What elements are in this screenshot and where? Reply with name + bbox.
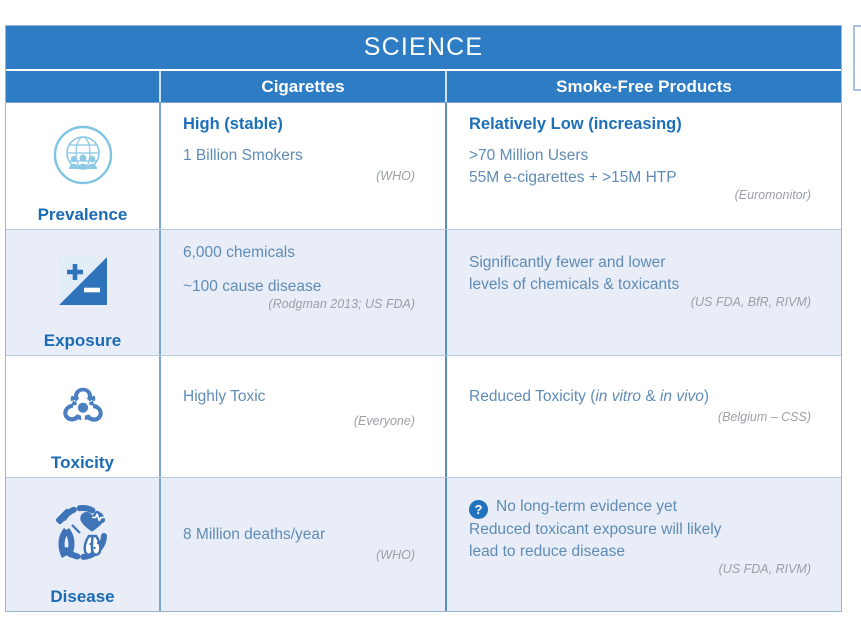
category-cell-toxicity: Toxicity (6, 356, 161, 477)
lead-text: High (stable) (183, 115, 429, 135)
source-citation: (WHO) (183, 548, 429, 562)
cigarettes-cell-exposure: 6,000 chemicals ~100 cause disease (Rodg… (161, 230, 447, 355)
table-row: Prevalence High (stable) 1 Billion Smoke… (6, 103, 841, 230)
source-citation: (Belgium – CSS) (469, 410, 825, 424)
body-line: No long-term evidence yet (496, 498, 677, 515)
slide-canvas: SCIENCE Cigarettes Smoke-Free Products (0, 0, 861, 633)
cigarettes-cell-disease: 8 Million deaths/year (WHO) (161, 478, 447, 611)
body-line-with-badge: ?No long-term evidence yet (469, 496, 825, 519)
body-line: 1 Billion Smokers (183, 145, 429, 167)
category-cell-disease: Disease (6, 478, 161, 611)
source-citation: (US FDA, BfR, RIVM) (469, 295, 825, 309)
plus-minus-square-icon (6, 230, 159, 332)
page-title: SCIENCE (364, 33, 484, 62)
table-header-row: Cigarettes Smoke-Free Products (6, 71, 841, 103)
column-header-cigarettes: Cigarettes (161, 71, 447, 102)
column-header-smokefree: Smoke-Free Products (447, 71, 841, 102)
body-line: 8 Million deaths/year (183, 524, 429, 546)
science-comparison-table: SCIENCE Cigarettes Smoke-Free Products (5, 25, 842, 612)
body-line: 55M e-cigarettes + >15M HTP (469, 167, 825, 189)
cropped-edge-box (853, 25, 861, 91)
body-line: Reduced toxicant exposure will likely (469, 519, 825, 541)
smokefree-cell-disease: ?No long-term evidence yet Reduced toxic… (447, 478, 841, 611)
source-citation: (Rodgman 2013; US FDA) (183, 297, 429, 311)
category-cell-exposure: Exposure (6, 230, 161, 355)
source-citation: (US FDA, RIVM) (469, 562, 825, 576)
category-label: Disease (50, 588, 114, 605)
biohazard-icon (6, 356, 159, 454)
source-citation: (WHO) (183, 169, 429, 183)
lead-text: Relatively Low (increasing) (469, 115, 825, 135)
body-line: Significantly fewer and lower (469, 252, 825, 274)
body-line: 6,000 chemicals (183, 242, 429, 264)
globe-people-icon (6, 103, 159, 206)
smokefree-cell-exposure: Significantly fewer and lower levels of … (447, 230, 841, 355)
category-cell-prevalence: Prevalence (6, 103, 161, 229)
source-citation: (Euromonitor) (469, 188, 825, 202)
column-header-category (6, 71, 161, 102)
cigarettes-cell-prevalence: High (stable) 1 Billion Smokers (WHO) (161, 103, 447, 229)
smokefree-cell-prevalence: Relatively Low (increasing) >70 Million … (447, 103, 841, 229)
smokefree-cell-toxicity: Reduced Toxicity (in vitro & in vivo) (B… (447, 356, 841, 477)
body-line: Reduced Toxicity (in vitro & in vivo) (469, 386, 825, 408)
table-row: Toxicity Highly Toxic (Everyone) Reduced… (6, 356, 841, 478)
category-label: Exposure (44, 332, 121, 349)
body-line: >70 Million Users (469, 145, 825, 167)
table-title-band: SCIENCE (6, 26, 841, 71)
table-row: Disease 8 Million deaths/year (WHO) ?No … (6, 478, 841, 611)
disease-cycle-icon (6, 478, 159, 588)
body-line: levels of chemicals & toxicants (469, 274, 825, 296)
source-citation: (Everyone) (183, 414, 429, 428)
category-label: Prevalence (38, 206, 128, 223)
body-line: ~100 cause disease (183, 276, 429, 298)
table-row: Exposure 6,000 chemicals ~100 cause dise… (6, 230, 841, 356)
body-line: lead to reduce disease (469, 541, 825, 563)
body-line: Highly Toxic (183, 386, 429, 408)
category-label: Toxicity (51, 454, 114, 471)
question-badge-icon: ? (469, 500, 488, 519)
cigarettes-cell-toxicity: Highly Toxic (Everyone) (161, 356, 447, 477)
